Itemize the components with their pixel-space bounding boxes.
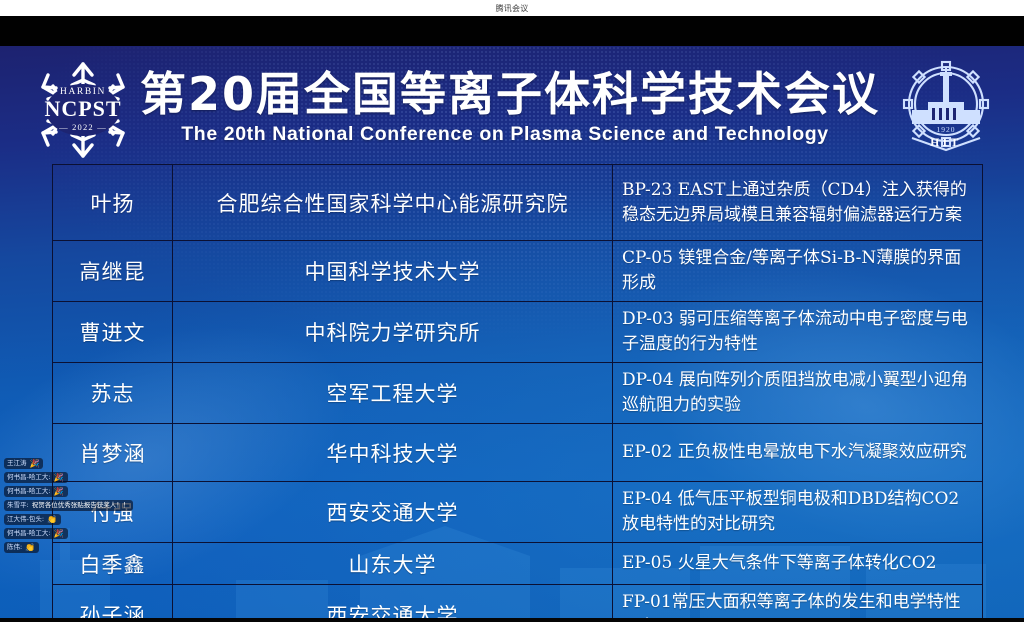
cell-affiliation: 西安交通大学 <box>173 585 613 619</box>
cell-awardee-name: 高继昆 <box>53 241 173 302</box>
table-row: 付强西安交通大学EP-04 低气压平板型铜电极和DBD结构CO2放电特性的对比研… <box>53 482 983 543</box>
cell-affiliation: 空军工程大学 <box>173 363 613 424</box>
window-titlebar: 腾讯会议 <box>0 0 1024 16</box>
cell-poster-title: DP-03 弱可压缩等离子体流动中电子密度与电子温度的行为特性 <box>613 302 983 363</box>
chat-sender-name: 何书昌-哈工大: <box>7 473 51 482</box>
chat-emoji-icon: 👏 <box>25 543 35 552</box>
cell-affiliation: 中科院力学研究所 <box>173 302 613 363</box>
chat-sender-name: 陈伟: <box>7 543 22 552</box>
award-table: 叶扬合肥综合性国家科学中心能源研究院BP-23 EAST上通过杂质（CD4）注入… <box>52 164 983 618</box>
logo-mark-year: — 2022 — <box>58 122 107 132</box>
cell-affiliation: 中国科学技术大学 <box>173 241 613 302</box>
cell-awardee-name: 曹进文 <box>53 302 173 363</box>
chat-message: 陈伟:👏 <box>4 542 39 553</box>
letterbox-top <box>0 16 1024 46</box>
chat-sender-name: 王江涛 <box>7 459 27 468</box>
slide-header: HARBIN NCPST — 2022 — 第20届全国等离子体科学技术会议 T… <box>0 46 1024 170</box>
snowflake-logo-icon: HARBIN NCPST — 2022 — <box>28 58 138 162</box>
chat-sender-name: 何书昌-哈工大: <box>7 529 51 538</box>
shared-slide: HARBIN NCPST — 2022 — 第20届全国等离子体科学技术会议 T… <box>0 46 1024 618</box>
cell-awardee-name: 付强 <box>53 482 173 543</box>
chat-sender-name: 何书昌-哈工大: <box>7 487 51 496</box>
cell-poster-title: EP-02 正负极性电晕放电下水汽凝聚效应研究 <box>613 424 983 482</box>
cell-affiliation: 山东大学 <box>173 543 613 585</box>
cell-poster-title: EP-04 低气压平板型铜电极和DBD结构CO2放电特性的对比研究 <box>613 482 983 543</box>
cell-affiliation: 合肥综合性国家科学中心能源研究院 <box>173 165 613 241</box>
cell-poster-title: EP-05 火星大气条件下等离子体转化CO2 <box>613 543 983 585</box>
chat-message: 王江涛🎉 <box>4 458 43 469</box>
logo-mark-main: NCPST <box>44 96 121 121</box>
emblem-year: 1920 <box>937 125 956 134</box>
chat-sender-name: 朱雪平: <box>7 501 29 510</box>
meeting-window: 腾讯会议 <box>0 0 1024 622</box>
letterbox-bottom <box>0 618 1024 622</box>
chat-emoji-icon: 🎉 <box>30 459 40 468</box>
cell-poster-title: DP-04 展向阵列介质阻挡放电减小翼型小迎角巡航阻力的实验 <box>613 363 983 424</box>
page-title: 第20届全国等离子体科学技术会议 <box>140 68 870 120</box>
hit-university-emblem-icon: 1920 HIT <box>892 54 1000 160</box>
cell-awardee-name: 叶扬 <box>53 165 173 241</box>
table-row: 肖梦涵华中科技大学EP-02 正负极性电晕放电下水汽凝聚效应研究 <box>53 424 983 482</box>
cell-affiliation: 西安交通大学 <box>173 482 613 543</box>
cell-awardee-name: 白季鑫 <box>53 543 173 585</box>
table-row: 曹进文中科院力学研究所DP-03 弱可压缩等离子体流动中电子密度与电子温度的行为… <box>53 302 983 363</box>
cell-awardee-name: 苏志 <box>53 363 173 424</box>
table-row: 苏志空军工程大学DP-04 展向阵列介质阻挡放电减小翼型小迎角巡航阻力的实验 <box>53 363 983 424</box>
cell-affiliation: 华中科技大学 <box>173 424 613 482</box>
cell-awardee-name: 肖梦涵 <box>53 424 173 482</box>
emblem-abbr: HIT <box>930 137 962 149</box>
table-row: 白季鑫山东大学EP-05 火星大气条件下等离子体转化CO2 <box>53 543 983 585</box>
chat-sender-name: 江大伟-包头: <box>7 515 44 524</box>
table-row: 叶扬合肥综合性国家科学中心能源研究院BP-23 EAST上通过杂质（CD4）注入… <box>53 165 983 241</box>
cell-awardee-name: 孙子涵 <box>53 585 173 619</box>
award-table-body: 叶扬合肥综合性国家科学中心能源研究院BP-23 EAST上通过杂质（CD4）注入… <box>53 165 983 619</box>
conference-title-block: 第20届全国等离子体科学技术会议 The 20th National Confe… <box>140 68 870 146</box>
table-row: 孙子涵西安交通大学FP-01常压大面积等离子体的发生和电学特性研究 <box>53 585 983 619</box>
cell-poster-title: BP-23 EAST上通过杂质（CD4）注入获得的稳态无边界局域模且兼容辐射偏滤… <box>613 165 983 241</box>
window-title: 腾讯会议 <box>496 3 529 14</box>
cell-poster-title: CP-05 镁锂合金/等离子体Si-B-N薄膜的界面形成 <box>613 241 983 302</box>
page-subtitle: The 20th National Conference on Plasma S… <box>140 122 870 146</box>
cell-poster-title: FP-01常压大面积等离子体的发生和电学特性研究 <box>613 585 983 619</box>
table-row: 高继昆中国科学技术大学CP-05 镁锂合金/等离子体Si-B-N薄膜的界面形成 <box>53 241 983 302</box>
